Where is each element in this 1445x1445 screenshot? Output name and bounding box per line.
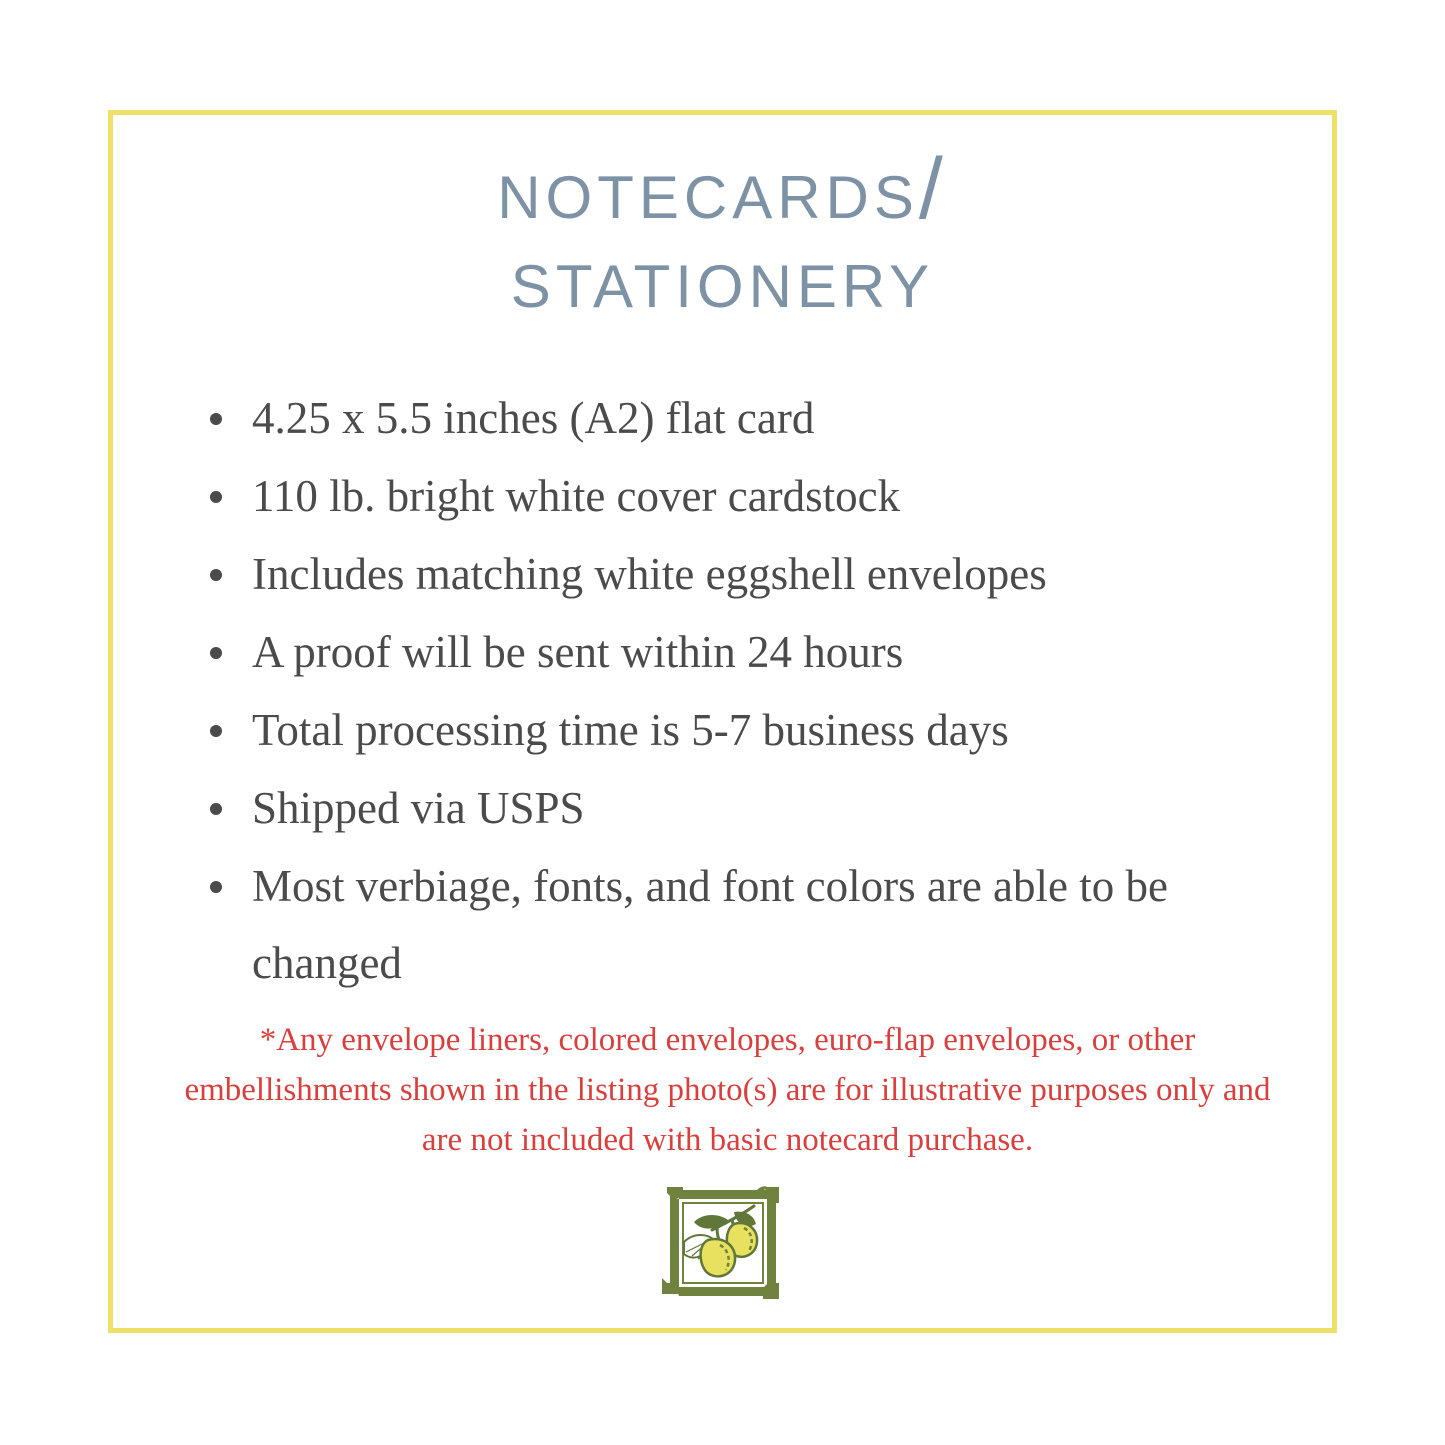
list-item: A proof will be sent within 24 hours	[205, 614, 1285, 691]
list-item-label: A proof will be sent within 24 hours	[252, 627, 903, 677]
page-canvas: Notecards/ Stationery 4.25 x 5.5 inches …	[0, 0, 1445, 1445]
bullet-dot-icon	[210, 725, 222, 737]
bullet-dot-icon	[210, 803, 222, 815]
bullet-dot-icon	[210, 647, 222, 659]
list-item: Includes matching white eggshell envelop…	[205, 536, 1285, 613]
title-line-1: Notecards/	[113, 145, 1332, 234]
bullet-dot-icon	[210, 881, 222, 893]
title-line-2: Stationery	[113, 234, 1332, 323]
lemon-branch-logo-icon	[662, 1182, 784, 1304]
page-title: Notecards/ Stationery	[113, 145, 1332, 324]
list-item: Total processing time is 5-7 business da…	[205, 692, 1285, 769]
brand-logo	[113, 1182, 1332, 1304]
disclaimer-text: *Any envelope liners, colored envelopes,…	[165, 1015, 1290, 1165]
bullet-dot-icon	[210, 413, 222, 425]
list-item-label: 110 lb. bright white cover cardstock	[252, 471, 900, 521]
list-item-label: Most verbiage, fonts, and font colors ar…	[252, 861, 1168, 988]
list-item-label: Includes matching white eggshell envelop…	[252, 549, 1047, 599]
card-frame: Notecards/ Stationery 4.25 x 5.5 inches …	[108, 110, 1337, 1333]
list-item: 4.25 x 5.5 inches (A2) flat card	[205, 380, 1285, 457]
feature-list: 4.25 x 5.5 inches (A2) flat card 110 lb.…	[205, 380, 1285, 1003]
bullet-dot-icon	[210, 569, 222, 581]
list-item-label: 4.25 x 5.5 inches (A2) flat card	[252, 393, 814, 443]
bullet-dot-icon	[210, 491, 222, 503]
list-item-label: Total processing time is 5-7 business da…	[252, 705, 1009, 755]
list-item: 110 lb. bright white cover cardstock	[205, 458, 1285, 535]
list-item: Most verbiage, fonts, and font colors ar…	[205, 848, 1285, 1002]
list-item-label: Shipped via USPS	[252, 783, 585, 833]
list-item: Shipped via USPS	[205, 770, 1285, 847]
